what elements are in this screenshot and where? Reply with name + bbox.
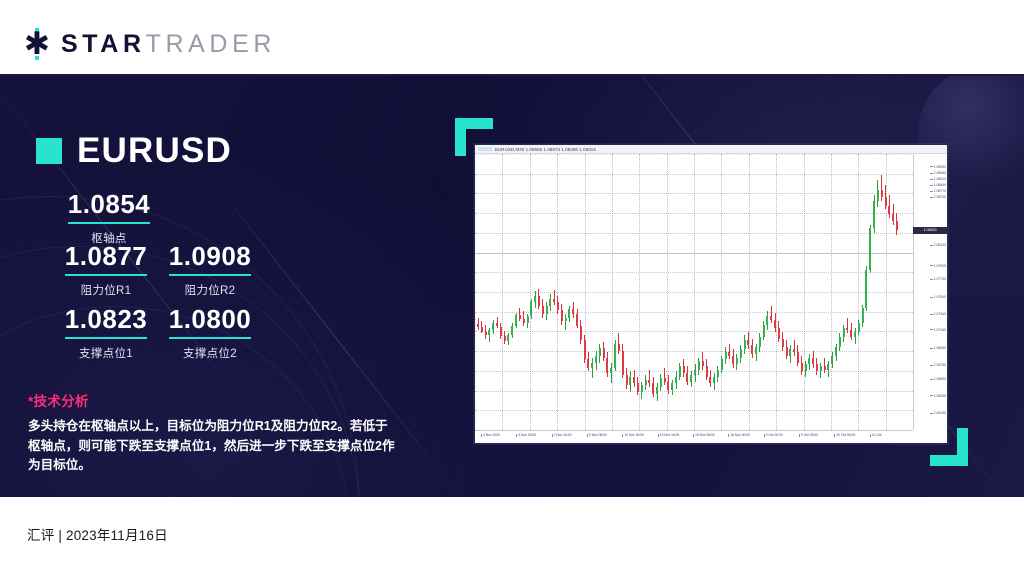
candlestick bbox=[530, 154, 532, 430]
time-axis-tick: 13 Nov 16:00 bbox=[658, 433, 680, 437]
candlestick bbox=[603, 154, 605, 430]
price-axis: 1.090501.089801.089101.088401.087701.087… bbox=[913, 154, 947, 430]
time-axis-tick: 9 Nov 08:00 bbox=[587, 433, 607, 437]
candlestick bbox=[515, 154, 517, 430]
chart-title-text: EURUSD,M30 1.08655 1.08673 1.08296 1.083… bbox=[495, 147, 596, 152]
analysis-heading: *技术分析 bbox=[28, 390, 400, 410]
candlestick bbox=[873, 154, 875, 430]
candlestick bbox=[770, 154, 772, 430]
candlestick bbox=[862, 154, 864, 430]
time-axis-tick: 5 Oct 08:00 bbox=[799, 433, 818, 437]
instrument-symbol: EURUSD bbox=[77, 133, 232, 168]
candlestick bbox=[618, 154, 620, 430]
candlestick bbox=[835, 154, 837, 430]
candlestick bbox=[831, 154, 833, 430]
candlestick bbox=[572, 154, 574, 430]
price-axis-tick: 1.06590 bbox=[930, 377, 946, 381]
candlestick bbox=[667, 154, 669, 430]
candlestick bbox=[805, 154, 807, 430]
candlestick bbox=[660, 154, 662, 430]
candlestick bbox=[877, 154, 879, 430]
candlestick bbox=[808, 154, 810, 430]
candlestick bbox=[778, 154, 780, 430]
price-chart-window[interactable]: EURUSD,M30 1.08655 1.08673 1.08296 1.083… bbox=[474, 144, 948, 444]
candlestick bbox=[713, 154, 715, 430]
candlestick bbox=[546, 154, 548, 430]
brand-name-bold: STAR bbox=[61, 30, 146, 58]
candlestick bbox=[492, 154, 494, 430]
candlestick bbox=[519, 154, 521, 430]
candlestick bbox=[606, 154, 608, 430]
candlestick bbox=[500, 154, 502, 430]
brand-logo[interactable]: ✱ STARTRADER bbox=[22, 28, 276, 60]
chart-titlebar: EURUSD,M30 1.08655 1.08673 1.08296 1.083… bbox=[475, 145, 947, 154]
candlestick bbox=[888, 154, 890, 430]
level-resistance2-value: 1.0908 bbox=[169, 242, 252, 276]
candlestick bbox=[694, 154, 696, 430]
candlestick bbox=[645, 154, 647, 430]
candlestick bbox=[675, 154, 677, 430]
time-axis-tick: 10 Oct 00:00 bbox=[834, 433, 855, 437]
price-axis-tick: 1.06195 bbox=[930, 411, 946, 415]
candlestick bbox=[763, 154, 765, 430]
candlestick bbox=[717, 154, 719, 430]
level-resistance2: 1.0908 阻力位R2 bbox=[140, 242, 280, 298]
chart-title-swatch bbox=[478, 147, 492, 151]
candlestick bbox=[686, 154, 688, 430]
analysis-body: 多头持仓在枢轴点以上，目标位为阻力位R1及阻力位R2。若低于枢轴点，则可能下跌至… bbox=[28, 417, 400, 476]
candlestick bbox=[629, 154, 631, 430]
candlestick bbox=[793, 154, 795, 430]
candlestick bbox=[481, 154, 483, 430]
candlestick bbox=[504, 154, 506, 430]
price-axis-tick: 1.08980 bbox=[930, 171, 946, 175]
logo-asterisk-glyph: ✱ bbox=[22, 32, 52, 56]
level-resistance1-value: 1.0877 bbox=[65, 242, 148, 276]
footer-caption: 汇评 | 2023年11月16日 bbox=[27, 524, 168, 544]
candlestick bbox=[584, 154, 586, 430]
candlestick bbox=[854, 154, 856, 430]
candlestick bbox=[721, 154, 723, 430]
candlestick-plot-area[interactable] bbox=[475, 154, 913, 430]
price-axis-tick: 1.08140 bbox=[930, 243, 946, 247]
candlestick bbox=[797, 154, 799, 430]
time-axis-tick: 12 Oct bbox=[870, 433, 882, 437]
level-support2-label: 支撑点位2 bbox=[140, 345, 280, 361]
candlestick bbox=[534, 154, 536, 430]
technical-analysis-block: *技术分析 多头持仓在枢轴点以上，目标位为阻力位R1及阻力位R2。若低于枢轴点，… bbox=[28, 390, 400, 476]
candlestick bbox=[728, 154, 730, 430]
candlestick bbox=[759, 154, 761, 430]
candlestick bbox=[732, 154, 734, 430]
price-axis-tick: 1.07540 bbox=[930, 295, 946, 299]
brand-wordmark: STARTRADER bbox=[61, 32, 276, 57]
price-axis-tick: 1.07750 bbox=[930, 277, 946, 281]
candlestick bbox=[690, 154, 692, 430]
price-axis-tick: 1.08700 bbox=[930, 195, 946, 199]
candlestick bbox=[892, 154, 894, 430]
price-axis-tick: 1.08770 bbox=[930, 189, 946, 193]
candlestick bbox=[827, 154, 829, 430]
candlestick bbox=[816, 154, 818, 430]
time-axis-tick: 3 Nov 2023 bbox=[481, 433, 500, 437]
time-axis: 3 Nov 20236 Nov 00:007 Nov 16:009 Nov 08… bbox=[475, 430, 913, 443]
time-axis-tick: 7 Nov 16:00 bbox=[552, 433, 572, 437]
candlestick bbox=[538, 154, 540, 430]
candlestick bbox=[633, 154, 635, 430]
candlestick bbox=[599, 154, 601, 430]
candlestick bbox=[614, 154, 616, 430]
logo-accent-square-bottom bbox=[35, 56, 39, 60]
candlestick bbox=[637, 154, 639, 430]
price-axis-tick: 1.09050 bbox=[930, 165, 946, 169]
candlestick bbox=[626, 154, 628, 430]
price-axis-tick: 1.07905 bbox=[930, 264, 946, 268]
candlestick bbox=[709, 154, 711, 430]
candlestick bbox=[576, 154, 578, 430]
level-resistance2-label: 阻力位R2 bbox=[140, 282, 280, 298]
candlestick bbox=[766, 154, 768, 430]
candlestick bbox=[648, 154, 650, 430]
price-axis-tick: 1.06750 bbox=[930, 363, 946, 367]
level-pivot: 1.0854 枢轴点 bbox=[44, 190, 174, 246]
instrument-bullet-square bbox=[36, 138, 62, 164]
candlestick bbox=[561, 154, 563, 430]
candlestick bbox=[683, 154, 685, 430]
price-axis-tick: 1.08840 bbox=[930, 183, 946, 187]
candlestick bbox=[610, 154, 612, 430]
candlestick bbox=[789, 154, 791, 430]
candlestick bbox=[801, 154, 803, 430]
price-axis-tick: 1.07160 bbox=[930, 328, 946, 332]
level-pivot-value: 1.0854 bbox=[68, 190, 151, 224]
candlestick bbox=[496, 154, 498, 430]
candlestick bbox=[843, 154, 845, 430]
candlestick bbox=[824, 154, 826, 430]
candlestick bbox=[725, 154, 727, 430]
candlestick bbox=[527, 154, 529, 430]
candlestick bbox=[702, 154, 704, 430]
brand-name-light: TRADER bbox=[146, 30, 276, 58]
candlestick bbox=[477, 154, 479, 430]
candlestick bbox=[580, 154, 582, 430]
candlestick bbox=[751, 154, 753, 430]
candlestick bbox=[565, 154, 567, 430]
time-axis-tick: 6 Nov 00:00 bbox=[516, 433, 536, 437]
instrument-title-row: EURUSD bbox=[36, 133, 232, 168]
candlestick bbox=[568, 154, 570, 430]
candlestick bbox=[698, 154, 700, 430]
candlestick bbox=[774, 154, 776, 430]
candlestick bbox=[511, 154, 513, 430]
price-axis-tick: 1.06395 bbox=[930, 394, 946, 398]
candlestick bbox=[591, 154, 593, 430]
candlestick bbox=[656, 154, 658, 430]
forex-analysis-graphic: ✱ STARTRADER EURUSD 1.0854 枢轴点 1.0877 阻力… bbox=[0, 0, 1024, 576]
candlestick bbox=[706, 154, 708, 430]
candlestick bbox=[664, 154, 666, 430]
candlestick bbox=[652, 154, 654, 430]
candlestick bbox=[622, 154, 624, 430]
candlestick bbox=[549, 154, 551, 430]
candlestick bbox=[595, 154, 597, 430]
candlestick bbox=[755, 154, 757, 430]
level-support2-value: 1.0800 bbox=[169, 305, 252, 339]
candlestick bbox=[786, 154, 788, 430]
candlestick bbox=[869, 154, 871, 430]
candlestick bbox=[507, 154, 509, 430]
current-price-tag: 1.08315 bbox=[913, 227, 947, 234]
candlestick bbox=[485, 154, 487, 430]
page-header: ✱ STARTRADER bbox=[0, 0, 1024, 75]
level-support2: 1.0800 支撑点位2 bbox=[140, 305, 280, 361]
time-axis-tick: 2 Oct 16:00 bbox=[764, 433, 783, 437]
page-footer: 汇评 | 2023年11月16日 bbox=[0, 497, 1024, 576]
candlestick bbox=[553, 154, 555, 430]
candlestick bbox=[744, 154, 746, 430]
price-axis-tick: 1.08910 bbox=[930, 177, 946, 181]
candlestick bbox=[850, 154, 852, 430]
time-axis-tick: 15 Nov 08:00 bbox=[693, 433, 715, 437]
candlestick bbox=[542, 154, 544, 430]
candlestick bbox=[881, 154, 883, 430]
candlestick bbox=[782, 154, 784, 430]
candlestick bbox=[671, 154, 673, 430]
candlestick bbox=[523, 154, 525, 430]
candlestick bbox=[736, 154, 738, 430]
time-axis-tick: 16 Nov 00:00 bbox=[728, 433, 750, 437]
level-support1-value: 1.0823 bbox=[65, 305, 148, 339]
time-axis-tick: 10 Nov 00:00 bbox=[622, 433, 644, 437]
candlestick bbox=[747, 154, 749, 430]
candlestick bbox=[865, 154, 867, 430]
candlestick bbox=[740, 154, 742, 430]
candlestick bbox=[846, 154, 848, 430]
price-axis-tick: 1.07340 bbox=[930, 312, 946, 316]
candlestick bbox=[896, 154, 898, 430]
candlestick bbox=[587, 154, 589, 430]
candlestick bbox=[488, 154, 490, 430]
candlestick bbox=[820, 154, 822, 430]
price-axis-tick: 1.06950 bbox=[930, 346, 946, 350]
candlestick bbox=[557, 154, 559, 430]
candlestick bbox=[641, 154, 643, 430]
candlestick bbox=[839, 154, 841, 430]
asterisk-star-icon: ✱ bbox=[22, 28, 52, 60]
candlestick bbox=[679, 154, 681, 430]
candlestick bbox=[812, 154, 814, 430]
candlestick bbox=[858, 154, 860, 430]
candlestick bbox=[885, 154, 887, 430]
